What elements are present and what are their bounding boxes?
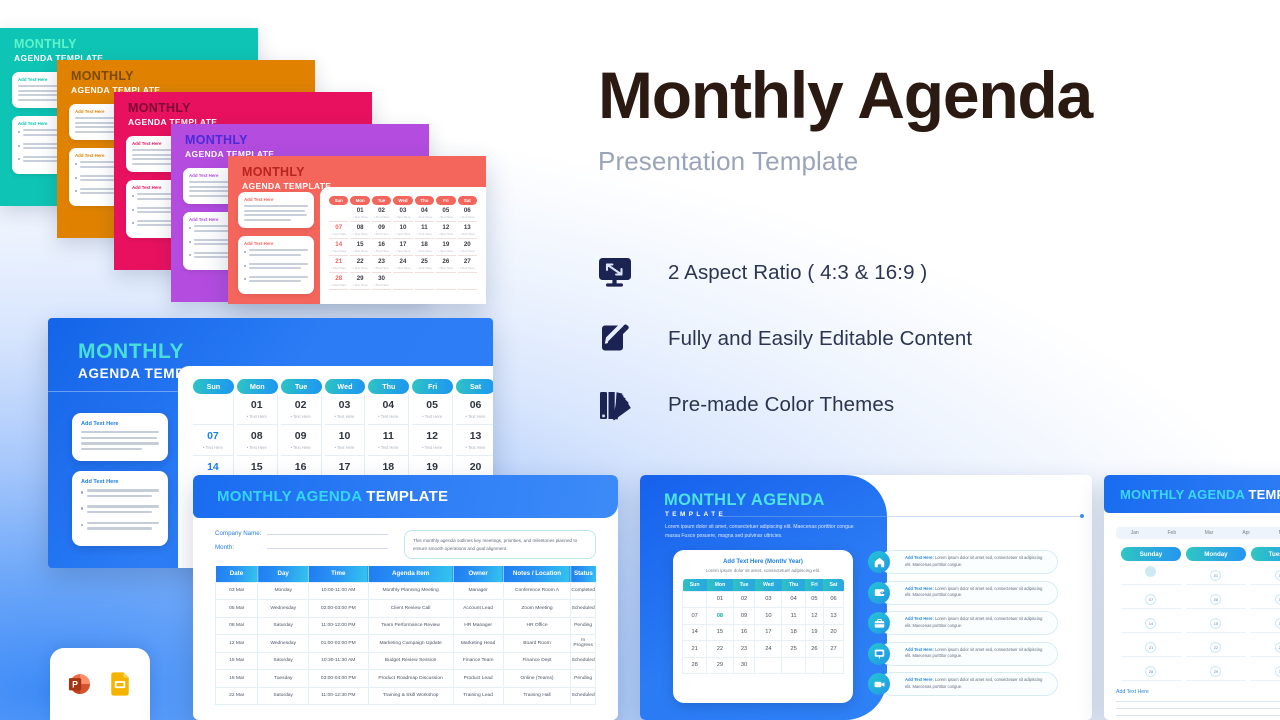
calendar-day-cell[interactable] [329,205,348,222]
agenda-note-text: This monthly agenda outlines key meeting… [413,537,587,552]
list-item[interactable]: Add Text Here: Lorem ipsum dolor sit ame… [868,642,1058,666]
icon-list-rows: Add Text Here: Lorem ipsum dolor sit ame… [868,550,1058,703]
calendar-day-number: 04 [415,207,434,214]
table-row[interactable]: 22 MarSaturday11:00-12:30 PMTraining & S… [216,687,596,705]
calendar-day-cell[interactable] [683,591,707,608]
right-title-cyan: MONTHLY AGENDA [1120,487,1245,502]
calendar-day-cell[interactable]: 14• Text Here [329,239,348,256]
agenda-cell: HR Manager [453,617,503,635]
table-row[interactable]: 12 MarWednesday01:00-02:00 PMMarketing C… [216,635,596,653]
calendar-day-number: 30 [372,275,391,282]
calendar-day-number: 20 [456,461,493,473]
icon-list-bold-label: Add Text Here: [905,586,935,591]
agenda-title-cyan: MONTHLY AGENDA [217,488,362,505]
right-day-header: Sunday [1121,547,1181,561]
calendar-day-number: 19 [412,461,452,473]
calendar-day-note: • Text Here [329,283,348,287]
right-day-marker: 22 [1210,642,1221,653]
calendar-day-header: Thu [368,379,409,394]
calendar-day-note: • Text Here [372,249,391,253]
agenda-note-box: This monthly agenda outlines key meeting… [404,530,596,559]
promo-canvas: MONTHLY AGENDA TEMPLATE Add Text Here Ad… [0,0,1280,720]
calendar-day-cell[interactable] [805,657,823,674]
icon-list-pill: Add Text Here: Lorem ipsum dolor sit ame… [880,611,1058,635]
calendar-day-cell[interactable]: 16• Text Here [372,239,391,256]
agenda-cell: Product Roadmap Discussion [368,670,453,688]
calendar-day-number: 21 [329,258,348,265]
icon-list-calendar-card: Add Text Here (Month/ Year) Lorem ipsum … [673,550,853,703]
calendar-day-cell[interactable]: 09• Text Here [372,222,391,239]
calendar-day-number: 26 [436,258,455,265]
calendar-day-cell[interactable] [755,657,782,674]
mini-text-box: Add Text Here [238,192,314,228]
calendar-day-cell[interactable] [823,657,843,674]
slide-right-edge[interactable]: MONTHLY AGENDA TEMP JanFebMarAprMay Sund… [1104,475,1280,720]
calendar-day-cell[interactable]: 12 [805,608,823,625]
calendar-day-cell[interactable]: 06• Text Here [458,205,477,222]
calendar-day-note: • Text Here [368,414,408,419]
calendar-day-cell[interactable] [415,273,434,290]
agenda-cell: Board Room [503,635,571,653]
icon-list-rule-dot [1080,514,1084,518]
calendar-day-cell[interactable]: 19 [805,624,823,641]
calendar-day-number: 14 [193,461,233,473]
calendar-day-note: • Text Here [458,266,477,270]
table-row[interactable]: 08 MarSaturday11:00-12:00 PMTeam Perform… [216,617,596,635]
right-day-cell[interactable]: 02 [1251,561,1280,585]
calendar-day-cell[interactable] [436,273,455,290]
agenda-cell: Completed [571,582,596,600]
calendar-day-header: Tue [281,379,322,394]
calendar-day-cell[interactable]: 28• Text Here [329,273,348,290]
calendar-day-cell[interactable]: 19• Text Here [436,239,455,256]
page-title: Monthly Agenda [598,62,1258,128]
calendar-day-note: • Text Here [393,266,412,270]
calendar-day-number: 16 [372,241,391,248]
calendar-day-number: 22 [350,258,369,265]
right-day-marker: 15 [1210,618,1221,629]
calendar-day-cell[interactable]: 15 [707,624,733,641]
fan-slide-red[interactable]: MONTHLY AGENDA TEMPLATE SunMonTueWedThuF… [228,156,486,304]
right-day-cell[interactable]: 15 [1186,609,1246,633]
right-day-cell[interactable]: 21 [1121,633,1181,657]
calendar-day-cell[interactable]: 20 [823,624,843,641]
agenda-cell: 11:00-12:30 PM [308,687,368,705]
agenda-cell: Training & Skill Workshop [368,687,453,705]
blue-slide-text-column: Add Text Here Add Text Here [72,413,168,556]
list-item[interactable]: Add Text Here: Lorem ipsum dolor sit ame… [868,611,1058,635]
calendar-day-note: • Text Here [436,249,455,253]
calendar-day-cell[interactable]: 02• Text Here [372,205,391,222]
calendar-day-number: 17 [325,461,365,473]
calendar-day-cell[interactable]: 16 [733,624,755,641]
calendar-day-note: • Text Here [393,249,412,253]
calendar-day-number: 02 [372,207,391,214]
right-slide-month-tabs[interactable]: JanFebMarAprMay [1116,527,1280,539]
calendar-day-header: Sun [329,196,348,205]
calendar-day-cell[interactable]: 04 [782,591,806,608]
agenda-cell: Finance Dept [503,652,571,670]
blue-box-title: Add Text Here [81,421,159,427]
list-item[interactable]: Add Text Here: Lorem ipsum dolor sit ame… [868,581,1058,605]
calendar-day-cell[interactable]: 05 [805,591,823,608]
calendar-day-cell[interactable]: 01• Text Here [350,205,369,222]
calendar-day-cell[interactable]: 10• Text Here [325,425,366,456]
month-tab[interactable]: Feb [1153,530,1190,536]
agenda-cell: Conference Room A [503,582,571,600]
blue-slide-text-box: Add Text Here [72,413,168,461]
calendar-day-cell[interactable] [193,394,234,425]
agenda-field-month[interactable]: Month: [215,544,404,551]
calendar-day-number: 01 [237,399,277,411]
calendar-day-cell[interactable]: 05• Text Here [436,205,455,222]
calendar-day-number: 16 [281,461,321,473]
calendar-day-cell[interactable]: 14 [683,624,707,641]
calendar-day-header: Sun [193,379,234,394]
right-day-marker: 16 [1275,618,1280,629]
calendar-day-number: 08 [237,430,277,442]
calendar-day-cell[interactable]: 29 [707,657,733,674]
calendar-day-cell[interactable]: 25 [782,641,806,658]
agenda-title-white: TEMPLATE [366,488,448,505]
calendar-day-number: 11 [368,430,408,442]
right-day-marker: 01 [1210,570,1221,581]
calendar-day-number: 09 [281,430,321,442]
calendar-day-cell[interactable]: 01 [707,591,733,608]
calendar-day-note: • Text Here [350,232,369,236]
calendar-day-number: 27 [458,258,477,265]
calendar-day-number: 17 [393,241,412,248]
icon-list-lead-text: Lorem ipsum dolor sit amet, consectetuer… [665,523,855,541]
table-row[interactable]: 18 MarTuesday03:00-04:00 PMProduct Roadm… [216,670,596,688]
calendar-week-row: 21• Text Here22• Text Here23• Text Here2… [329,256,477,273]
right-day-marker: 14 [1145,618,1156,629]
calendar-day-cell[interactable]: 04• Text Here [415,205,434,222]
calendar-day-cell[interactable]: 22• Text Here [350,256,369,273]
calendar-day-note: • Text Here [393,232,412,236]
calendar-week-row: 14151617181920 [683,624,844,641]
calendar-day-note: • Text Here [372,215,391,219]
calendar-day-cell[interactable]: 24• Text Here [393,256,412,273]
agenda-cell: 18 Mar [216,670,258,688]
right-slide-footer-label: Add Text Here [1116,689,1280,695]
agenda-cell: Wednesday [258,635,309,653]
right-day-cell[interactable]: 09 [1251,585,1280,609]
right-day-cell[interactable]: 23 [1251,633,1280,657]
calendar-day-cell[interactable]: 26• Text Here [436,256,455,273]
calendar-day-note: • Text Here [415,266,434,270]
mini-heading: MONTHLY AGENDA TEMPLATE [114,92,372,127]
agenda-cell: 05 Mar [216,600,258,618]
calendar-day-note: • Text Here [350,266,369,270]
calendar-day-cell[interactable]: 28 [683,657,707,674]
calendar-day-cell[interactable]: 12• Text Here [412,425,453,456]
calendar-day-number: 08 [350,224,369,231]
month-tab[interactable]: May [1265,530,1280,536]
wallet-icon[interactable] [868,582,890,604]
right-week-row: 141516 [1121,609,1280,633]
calendar-day-cell[interactable] [458,273,477,290]
calendar-day-cell[interactable]: 13 [823,608,843,625]
calendar-day-cell[interactable]: 05• Text Here [412,394,453,425]
calendar-day-header: Thu [782,579,806,591]
calendar-day-cell[interactable]: 21• Text Here [329,256,348,273]
calendar-day-cell[interactable]: 24 [755,641,782,658]
mini-box-title: Add Text Here [244,197,308,202]
calendar-day-cell[interactable]: 12• Text Here [436,222,455,239]
calendar-day-header: Thu [415,196,434,205]
calendar-day-cell[interactable]: 20• Text Here [458,239,477,256]
calendar-day-cell[interactable]: 15• Text Here [350,239,369,256]
calendar-day-header: Wed [755,579,782,591]
calendar-day-number: 12 [436,224,455,231]
calendar-day-number: 15 [350,241,369,248]
month-tab[interactable]: Apr [1228,530,1265,536]
agenda-table: DateDayTimeAgenda ItemOwnerNotes / Locat… [215,566,596,705]
feature-row-3: Pre-made Color Themes [598,372,1218,438]
powerpoint-icon: P [66,670,94,698]
calendar-day-cell[interactable]: 09 [733,608,755,625]
right-day-cell[interactable]: 28 [1121,657,1181,681]
agenda-cell: 03 Mar [216,582,258,600]
icon-list-rule [718,516,1082,517]
video-camera-icon[interactable] [868,673,890,695]
calendar-day-note: • Text Here [415,249,434,253]
calendar-day-note: • Text Here [350,215,369,219]
calendar-day-note: • Text Here [350,249,369,253]
calendar-day-cell[interactable]: 07• Text Here [329,222,348,239]
calendar-day-cell[interactable]: 18 [782,624,806,641]
calendar-day-cell[interactable]: 11• Text Here [415,222,434,239]
agenda-column-header: Status [571,566,596,582]
agenda-field-month-label: Month: [215,544,267,551]
right-day-cell[interactable]: 14 [1121,609,1181,633]
calendar-day-cell[interactable]: 01• Text Here [237,394,278,425]
month-tab[interactable]: Mar [1190,530,1227,536]
agenda-column-header: Date [216,566,258,582]
right-day-marker [1145,566,1156,577]
calendar-day-note: • Text Here [329,266,348,270]
calendar-day-cell[interactable]: 08• Text Here [350,222,369,239]
agenda-column-header: Owner [453,566,503,582]
calendar-day-cell[interactable]: 23• Text Here [372,256,391,273]
calendar-day-note: • Text Here [458,215,477,219]
icon-list-title: MONTHLY AGENDA [664,491,825,510]
agenda-cell: Online (Teams) [503,670,571,688]
calendar-day-note: • Text Here [456,445,493,450]
icon-list-text: Add Text Here: Lorem ipsum dolor sit ame… [905,616,1049,630]
calendar-day-note: • Text Here [281,445,321,450]
calendar-day-cell[interactable]: 07 [683,608,707,625]
calendar-day-cell[interactable]: 02• Text Here [281,394,322,425]
agenda-field-company-label: Company Name: [215,530,267,537]
agenda-cell: Scheduled [571,652,596,670]
calendar-day-cell[interactable]: 10• Text Here [393,222,412,239]
calendar-day-cell[interactable]: 08• Text Here [237,425,278,456]
agenda-field-month-underline [267,548,388,549]
calendar-week-row: 28• Text Here29• Text Here30• Text Here [329,273,477,290]
calendar-day-cell[interactable]: 30• Text Here [372,273,391,290]
right-week-row: 070809 [1121,585,1280,609]
right-title-white: TEMP [1248,487,1280,502]
calendar-day-note: • Text Here [237,414,277,419]
calendar-day-note: • Text Here [350,283,369,287]
agenda-cell: Finance Team [453,652,503,670]
calendar-day-cell[interactable]: 03• Text Here [325,394,366,425]
calendar-day-cell[interactable]: 17 [755,624,782,641]
calendar-day-cell[interactable]: 06 [823,591,843,608]
calendar-day-header: Fri [436,196,455,205]
list-item[interactable]: Add Text Here: Lorem ipsum dolor sit ame… [868,672,1058,696]
calendar-day-number: 20 [458,241,477,248]
calendar-day-cell[interactable] [393,273,412,290]
right-week-row: 212223 [1121,633,1280,657]
calendar-day-cell[interactable]: 06• Text Here [456,394,493,425]
calendar-day-cell[interactable]: 18• Text Here [415,239,434,256]
agenda-cell: Scheduled [571,600,596,618]
calendar-day-cell[interactable]: 03• Text Here [393,205,412,222]
blue-box-title: Add Text Here [81,479,159,485]
calendar-day-cell[interactable]: 08 [707,608,733,625]
calendar-day-note: • Text Here [372,266,391,270]
agenda-fields: Company Name: Month: [215,530,404,559]
calendar-day-header: Tue [733,579,755,591]
calendar-day-note: • Text Here [393,215,412,219]
month-tab[interactable]: Jan [1116,530,1153,536]
mini-heading-line1: MONTHLY [128,102,372,115]
calendar-day-number: 03 [325,399,365,411]
calendar-day-cell[interactable]: 30 [733,657,755,674]
calendar-day-header: Tue [372,196,391,205]
calendar-day-header: Sun [683,579,707,591]
feature-label: Pre-made Color Themes [668,393,894,417]
agenda-cell: Pending [571,670,596,688]
calendar-week-row: 01• Text Here02• Text Here03• Text Here0… [193,394,493,425]
calendar-day-note: • Text Here [325,445,365,450]
agenda-cell: 10:30-11:30 AM [308,652,368,670]
icon-list-bold-label: Add Text Here: [905,677,935,682]
calendar-day-cell[interactable]: 13• Text Here [458,222,477,239]
agenda-cell: Zoom Meeting [503,600,571,618]
calendar-week-row: 07080910111213 [683,608,844,625]
calendar-day-note: • Text Here [415,215,434,219]
calendar-day-header: Fri [412,379,453,394]
right-day-cell[interactable] [1121,561,1181,585]
calendar-day-cell[interactable]: 26 [805,641,823,658]
icon-list-pill: Add Text Here: Lorem ipsum dolor sit ame… [880,672,1058,696]
agenda-meta-row: Company Name: Month: This monthly agenda… [193,518,618,559]
right-slide-footer-line [1116,701,1280,702]
calendar-day-number: 09 [372,224,391,231]
calendar-day-number: 19 [436,241,455,248]
right-day-cell[interactable]: 30 [1251,657,1280,681]
calendar-day-cell[interactable]: 11• Text Here [368,425,409,456]
agenda-cell: Budget Review Session [368,652,453,670]
calendar-day-header: Mon [350,196,369,205]
right-day-cell[interactable]: 08 [1186,585,1246,609]
calendar-day-cell[interactable]: 10 [755,608,782,625]
list-item[interactable]: Add Text Here: Lorem ipsum dolor sit ame… [868,550,1058,574]
calendar-day-cell[interactable]: 11 [782,608,806,625]
right-slide-footer: Add Text Here [1116,689,1280,716]
agenda-field-company[interactable]: Company Name: [215,530,404,537]
calendar-week-row: 01• Text Here02• Text Here03• Text Here0… [329,205,477,222]
calendar-day-note: • Text Here [368,445,408,450]
calendar-day-cell[interactable]: 17• Text Here [393,239,412,256]
icon-list-bold-label: Add Text Here: [905,647,935,652]
calendar-day-cell[interactable]: 07• Text Here [193,425,234,456]
home-icon[interactable] [868,551,890,573]
right-day-cell[interactable]: 29 [1186,657,1246,681]
calendar-day-cell[interactable]: 25• Text Here [415,256,434,273]
right-day-marker: 30 [1275,666,1280,677]
agenda-cell: Training Lead [453,687,503,705]
calendar-day-number: 13 [458,224,477,231]
icon-list-pill: Add Text Here: Lorem ipsum dolor sit ame… [880,550,1058,574]
agenda-slide-header: MONTHLY AGENDA TEMPLATE [193,475,618,518]
calendar-day-cell[interactable]: 29• Text Here [350,273,369,290]
calendar-day-number: 07 [329,224,348,231]
calendar-day-number: 06 [456,399,493,411]
right-slide-footer-line [1116,708,1280,709]
calendar-day-cell[interactable] [782,657,806,674]
right-day-marker: 23 [1275,642,1280,653]
calendar-day-cell[interactable]: 22 [707,641,733,658]
feature-label: Fully and Easily Editable Content [668,327,972,351]
briefcase-icon[interactable] [868,612,890,634]
calendar-day-cell[interactable]: 27• Text Here [458,256,477,273]
calendar-day-number: 06 [458,207,477,214]
table-row[interactable]: 05 MarWednesday02:00-03:00 PMClient Revi… [216,600,596,618]
icon-list-text: Add Text Here: Lorem ipsum dolor sit ame… [905,677,1049,691]
agenda-cell: 03:00-04:00 PM [308,670,368,688]
calendar-day-cell[interactable]: 03 [755,591,782,608]
slide-icon-list[interactable]: MONTHLY AGENDA TEMPLATE Lorem ipsum dolo… [640,475,1092,720]
right-day-cell[interactable]: 16 [1251,609,1280,633]
mini-heading-line1: MONTHLY [185,134,429,147]
calendar-day-note: • Text Here [281,414,321,419]
calendar-day-number: 02 [281,399,321,411]
calendar-day-note: • Text Here [329,249,348,253]
calendar-day-cell[interactable]: 02 [733,591,755,608]
calendar-day-cell[interactable]: 04• Text Here [368,394,409,425]
right-day-cell[interactable]: 01 [1186,561,1246,585]
calendar-day-number: 07 [193,430,233,442]
calendar-day-number: 25 [415,258,434,265]
agenda-cell: In Progress [571,635,596,653]
slide-agenda-table[interactable]: MONTHLY AGENDA TEMPLATE Company Name: Mo… [193,475,618,720]
table-row[interactable]: 15 MarSaturday10:30-11:30 AMBudget Revie… [216,652,596,670]
right-day-cell[interactable]: 22 [1186,633,1246,657]
calendar-day-header: Mon [237,379,278,394]
agenda-cell: 11:00-12:00 PM [308,617,368,635]
calendar-day-cell[interactable]: 13• Text Here [456,425,493,456]
calendar-day-cell[interactable]: 09• Text Here [281,425,322,456]
presentation-icon[interactable] [868,643,890,665]
calendar-day-number: 12 [412,430,452,442]
calendar-week-row: 010203040506 [683,591,844,608]
calendar-day-cell[interactable]: 23 [733,641,755,658]
right-day-marker: 08 [1210,594,1221,605]
calendar-day-number: 10 [325,430,365,442]
calendar-day-cell[interactable]: 27 [823,641,843,658]
agenda-cell: 12 Mar [216,635,258,653]
icon-list-text: Add Text Here: Lorem ipsum dolor sit ame… [905,647,1049,661]
table-row[interactable]: 03 MarMonday10:00-11:00 AMMonthly Planni… [216,582,596,600]
right-day-cell[interactable]: 07 [1121,585,1181,609]
calendar-day-cell[interactable]: 21 [683,641,707,658]
calendar-day-number: 18 [368,461,408,473]
